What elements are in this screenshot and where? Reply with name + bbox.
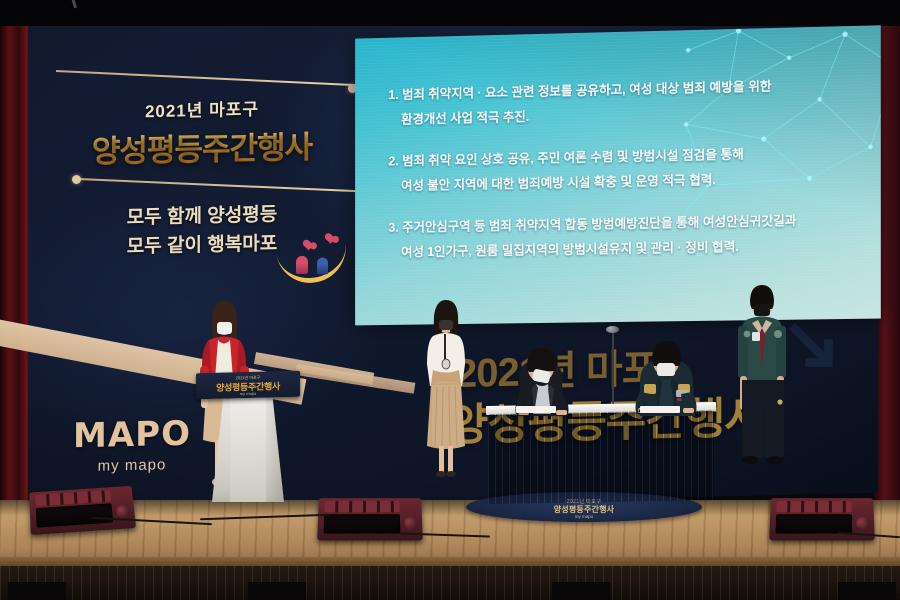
stage-apron-slats [0,566,900,600]
apron-vent-1 [8,582,66,600]
speaker-grille [324,514,401,533]
speaker-fins [776,501,852,512]
table-microphone-stand [612,330,614,404]
figure-graphic-blue [317,257,328,274]
floor-mat-line3: my mapo [466,514,702,519]
stage-floor-shadow [0,500,900,516]
arrow-graphic-icon [784,318,842,376]
screen-bullet-2: 2. 범죄 취약 요인 상호 공유, 주민 여론 수렴 및 방범시설 점검을 통… [388,140,854,198]
screen-bullet-3-number: 3. [388,221,398,235]
backdrop-banner-text: 2021년 마포구 양성평등주간행사 모두 함께 양성평등 모두 같이 행복마포 [62,93,342,263]
podium-stem [230,396,266,502]
screen-bullet-1-number: 1. [388,88,398,102]
screen-bullet-1-line2: 환경개선 사업 적극 추진. [388,97,854,132]
screen-bullet-2-line1: 범죄 취약 요인 상호 공유, 주민 여론 수렴 및 방범시설 점검을 통해 [402,147,744,168]
screen-bullet-3-line1: 주거안심구역 등 범죄 취약지역 합동 방범예방진단을 통해 여성안심귀갓길과 [402,214,796,235]
apron-vent-4 [838,582,896,600]
speaker-fins [324,501,400,512]
screen-bullet-1: 1. 범죄 취약지역 · 요소 관련 정보를 공유하고, 여성 대상 범죄 예방… [388,72,854,132]
signing-document-left [516,406,556,413]
person-standing-police [736,284,788,500]
stage-top-masking [0,0,900,26]
speaker-grille [36,503,113,527]
mapo-logo: MAPO my mapo [52,413,212,475]
stage-apron [0,566,900,600]
speaker-grille [776,514,853,533]
screen-bullet-3-line2: 여성 1인가구, 원룸 밀집지역의 방범시설유지 및 관리 · 정비 협력. [388,233,854,265]
mapo-logo-mark: MAPO [52,413,212,456]
figure-graphic-red [296,256,308,274]
screen-content: 1. 범죄 취약지역 · 요소 관련 정보를 공유하고, 여성 대상 범죄 예방… [355,25,881,265]
apron-vent-3 [552,582,610,600]
person-standing-staff [424,300,468,500]
screen-bullet-2-line2: 여성 불안 지역에 대한 범죄예방 시설 확충 및 운영 적극 협력. [388,165,854,198]
mapo-logo-tagline: my mapo [52,455,212,475]
signing-table [486,404,716,502]
signing-document-right [640,406,680,413]
podium-sign: 2021년 마포구 양성평등주간행사 my mapo [196,371,300,400]
screen-bullet-2-number: 2. [388,154,398,168]
speaker-tweeter [404,517,417,530]
table-microphone-head-icon [606,326,619,333]
stage-floor [0,500,900,562]
stage-photo: 2021년 마포구 양성평등주간행사 모두 함께 양성평등 모두 같이 행복마포… [0,0,900,600]
screen-bullet-3: 3. 주거안심구역 등 범죄 취약지역 합동 방범예방진단을 통해 여성안심귀갓… [388,208,854,265]
speaker-tweeter [856,517,869,530]
projection-screen: 1. 범죄 취약지역 · 요소 관련 정보를 공유하고, 여성 대상 범죄 예방… [355,25,881,325]
screen-bullet-1-line1: 범죄 취약지역 · 요소 관련 정보를 공유하고, 여성 대상 범죄 예방을 위… [402,79,771,101]
banner-title: 양성평등주간행사 [62,121,342,172]
speaker-tweeter [116,505,130,518]
banner-year: 2021년 마포구 [62,93,342,124]
apron-vent-2 [248,582,306,600]
podium: 2021년 마포구 양성평등주간행사 my mapo [196,372,300,502]
stage-monitor-speaker-1 [29,486,136,535]
signing-table-skirt [488,410,714,504]
